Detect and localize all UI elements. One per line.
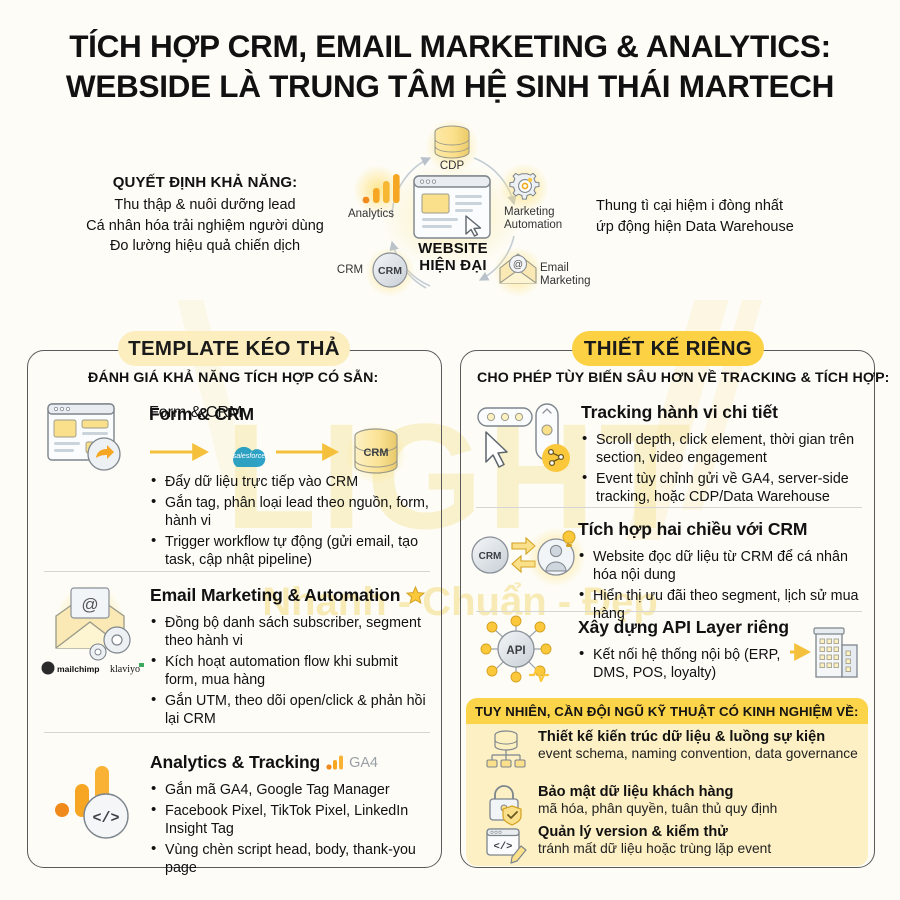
callout-item-3-desc: tránh mất dữ liệu hoặc trùng lặp event xyxy=(538,841,860,857)
hero-section: QUYẾT ĐỊNH KHẢ NĂNG: Thu thập & nuôi dưỡ… xyxy=(0,120,900,320)
em-line-2: Marketing xyxy=(540,275,610,288)
diagram-label-email-marketing: Email Marketing xyxy=(540,262,610,288)
list-item: Trigger workflow tự động (gửi email, tạo… xyxy=(150,533,432,569)
callout-header-bar: TUY NHIÊN, CẦN ĐỘI NGŨ KỸ THUẬT CÓ KINH … xyxy=(466,698,868,724)
ma-line-2: Automation xyxy=(504,219,584,232)
form-crm-bullets: Đẩy dữ liệu trực tiếp vào CRM Gắn tag, p… xyxy=(150,470,432,569)
infographic-canvas: LIGHT Nhanh - Chuẩn - Đẹp TÍCH HỢP CRM, … xyxy=(0,0,900,900)
svg-text:mailchimp: mailchimp xyxy=(57,664,100,674)
left-divider-2 xyxy=(44,732,430,733)
analytics-tracking-heading: Analytics & Tracking GA4 xyxy=(150,752,378,773)
lock-shield-icon xyxy=(484,784,528,824)
form-crm-heading-text: Form & CRM xyxy=(149,404,254,425)
salesforce-logo: salesforce xyxy=(233,447,266,467)
ecosystem-diagram: @ CRM xyxy=(318,120,586,320)
crm-sync-bullets: Website đọc dữ liệu từ CRM để cá nhân hó… xyxy=(578,545,870,623)
api-hub-icon-group: API xyxy=(472,613,568,687)
experience-callout: TUY NHIÊN, CẦN ĐỘI NGŨ KỸ THUẬT CÓ KINH … xyxy=(466,698,868,866)
list-item: Kết nối hệ thống nội bộ (ERP, DMS, POS, … xyxy=(578,646,783,682)
em-line-1: Email xyxy=(540,262,610,275)
crm-sync-heading: Tích hợp hai chiều với CRM xyxy=(578,519,807,540)
tracking-bullets: Scroll depth, click element, thời gian t… xyxy=(581,428,869,506)
panel-right-pill: THIẾT KẾ RIÊNG xyxy=(572,331,764,366)
crm-database-icon: CRM xyxy=(355,429,397,473)
star-icon xyxy=(406,586,425,605)
list-item: Gắn tag, phân loại lead theo nguồn, form… xyxy=(150,494,432,530)
callout-item-3-title: Quản lý version & kiểm thử xyxy=(538,824,860,841)
callout-item-3: Quản lý version & kiểm thử tránh mất dữ … xyxy=(538,824,860,857)
data-architecture-icon xyxy=(484,730,528,770)
diagram-label-cdp: CDP xyxy=(422,160,482,173)
list-item: Gắn UTM, theo dõi open/click & phản hồi … xyxy=(150,692,432,728)
email-automation-heading: Email Marketing & Automation xyxy=(150,585,425,606)
hero-right-line-2: ứp động hiện Data Warehouse xyxy=(596,217,886,238)
list-item: Website đọc dữ liệu từ CRM để cá nhân hó… xyxy=(578,548,870,584)
hero-left-text: QUYẾT ĐỊNH KHẢ NĂNG: Thu thập & nuôi dưỡ… xyxy=(60,172,350,257)
list-item: Đồng bộ danh sách subscriber, segment th… xyxy=(150,614,432,650)
callout-item-2-title: Bảo mật dữ liệu khách hàng xyxy=(538,784,860,801)
email-automation-icon-group: @ mailchimp klaviyo xyxy=(38,580,146,680)
hero-left-line-2: Cá nhân hóa trải nghiệm người dùng xyxy=(60,216,350,237)
email-automation-heading-text: Email Marketing & Automation xyxy=(150,585,400,606)
list-item: Facebook Pixel, TikTok Pixel, LinkedIn I… xyxy=(150,802,432,838)
svg-text:salesforce: salesforce xyxy=(233,451,266,460)
diagram-label-crm: CRM xyxy=(328,264,372,277)
diagram-label-analytics: Analytics xyxy=(332,208,410,221)
list-item: Đẩy dữ liệu trực tiếp vào CRM xyxy=(150,473,432,491)
website-browser-icon xyxy=(414,176,490,238)
page-title: TÍCH HỢP CRM, EMAIL MARKETING & ANALYTIC… xyxy=(0,26,900,107)
svg-text:@: @ xyxy=(81,595,98,614)
svg-text:CRM: CRM xyxy=(363,447,388,459)
crm-sync-icon-group: CRM xyxy=(470,521,578,591)
panel-right-subtitle: CHO PHÉP TÙY BIẾN SÂU HƠN VỀ TRACKING & … xyxy=(477,370,889,386)
form-crm-icon-group xyxy=(44,398,139,484)
list-item: Vùng chèn script head, body, thank-you p… xyxy=(150,841,432,877)
api-layer-bullets: Kết nối hệ thống nội bộ (ERP, DMS, POS, … xyxy=(578,643,783,682)
hero-right-line-1: Thung tì cại hiệm i đòng nhất xyxy=(596,196,886,217)
svg-text:</>: </> xyxy=(494,841,513,853)
analytics-tracking-bullets: Gắn mã GA4, Google Tag Manager Facebook … xyxy=(150,778,432,877)
list-item: Kích hoạt automation flow khi submit for… xyxy=(150,653,432,689)
list-item: Event tùy chỉnh gửi về GA4, server-side … xyxy=(581,470,869,506)
api-layer-heading: Xây dựng API Layer riêng xyxy=(578,617,789,638)
building-icon-group xyxy=(790,625,862,683)
title-line-1: TÍCH HỢP CRM, EMAIL MARKETING & ANALYTIC… xyxy=(0,26,900,66)
hero-left-heading: QUYẾT ĐỊNH KHẢ NĂNG: xyxy=(60,172,350,193)
list-item: Gắn mã GA4, Google Tag Manager xyxy=(150,781,432,799)
svg-text:</>: </> xyxy=(92,810,119,827)
callout-item-2: Bảo mật dữ liệu khách hàng mã hóa, phân … xyxy=(538,784,860,817)
diagram-center-caption: WEBSITE HIỆN ĐẠI xyxy=(390,241,516,275)
mailchimp-logo: mailchimp xyxy=(42,662,100,675)
code-version-icon: </> xyxy=(484,824,528,864)
klaviyo-logo: klaviyo xyxy=(110,664,140,675)
hero-left-line-3: Đo lường hiệu quả chiến dịch xyxy=(60,236,350,257)
hero-right-text: Thung tì cại hiệm i đòng nhất ứp động hi… xyxy=(596,196,886,238)
callout-item-1-title: Thiết kế kiến trúc dữ liệu & luồng sự ki… xyxy=(538,729,860,746)
center-caption-line-2: HIỆN ĐẠI xyxy=(390,258,516,275)
ga4-label: GA4 xyxy=(349,755,378,771)
svg-text:API: API xyxy=(506,645,525,657)
panel-left-pill: TEMPLATE KÉO THẢ xyxy=(118,331,350,366)
diagram-label-marketing-automation: Marketing Automation xyxy=(504,206,584,232)
analytics-tracking-icon-group: </> xyxy=(48,752,140,844)
svg-text:CRM: CRM xyxy=(479,551,502,562)
analytics-tracking-heading-text: Analytics & Tracking xyxy=(150,752,320,773)
callout-item-1: Thiết kế kiến trúc dữ liệu & luồng sự ki… xyxy=(538,729,860,762)
tracking-heading: Tracking hành vi chi tiết xyxy=(581,402,778,423)
callout-item-1-desc: event schema, naming convention, data go… xyxy=(538,746,860,762)
right-divider-1 xyxy=(476,507,862,508)
list-item: Scroll depth, click element, thời gian t… xyxy=(581,431,869,467)
hero-left-line-1: Thu thập & nuôi dưỡng lead xyxy=(60,195,350,216)
title-line-2: WEBSIDE LÀ TRUNG TÂM HỆ SINH THÁI MARTEC… xyxy=(0,66,900,106)
ga4-bars-icon xyxy=(326,755,343,770)
panel-left-subtitle: ĐÁNH GIÁ KHẢ NĂNG TÍCH HỢP CÓ SẴN: xyxy=(88,370,378,386)
ma-line-1: Marketing xyxy=(504,206,584,219)
center-caption-line-1: WEBSITE xyxy=(390,241,516,258)
left-divider-1 xyxy=(44,571,430,572)
callout-item-2-desc: mã hóa, phân quyền, tuân thủ quy định xyxy=(538,801,860,817)
tracking-icon-group xyxy=(476,400,572,482)
callout-title: TUY NHIÊN, CẦN ĐỘI NGŨ KỸ THUẬT CÓ KINH … xyxy=(466,704,859,719)
email-automation-bullets: Đồng bộ danh sách subscriber, segment th… xyxy=(150,611,432,728)
database-icon xyxy=(435,126,469,158)
